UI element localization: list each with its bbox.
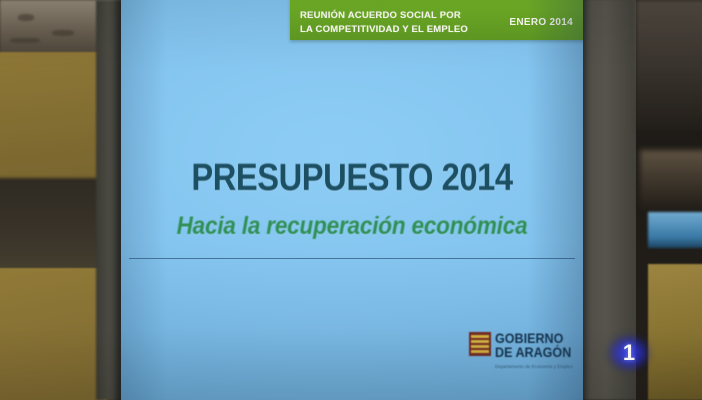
slide-title: PRESUPUESTO 2014: [153, 157, 550, 200]
stone-texture-speck: [52, 30, 74, 36]
slide-green-banner: REUNIÓN ACUERDO SOCIAL POR LA COMPETITIV…: [290, 0, 583, 40]
left-door-panel: [0, 268, 107, 400]
banner-date: ENERO 2014: [509, 17, 573, 28]
right-arch: [640, 150, 702, 210]
channel-logo: 1: [600, 328, 658, 378]
slide-subtitle: Hacia la recuperación económica: [144, 212, 560, 241]
right-background-monitor: [648, 212, 702, 248]
logo-department-text: Departamento de Economía y Empleo: [495, 364, 573, 370]
gobierno-de-aragon-logo: GOBIERNO DE ARAGÓN: [469, 332, 577, 360]
banner-line-1: REUNIÓN ACUERDO SOCIAL POR: [300, 10, 461, 21]
broadcast-frame: REUNIÓN ACUERDO SOCIAL POR LA COMPETITIV…: [0, 0, 702, 400]
slide-divider: [129, 258, 575, 259]
stone-texture-speck: [10, 38, 40, 43]
right-ceiling: [636, 0, 702, 130]
aragon-emblem-icon: [469, 332, 491, 356]
logo-line-2: DE ARAGÓN: [495, 346, 571, 360]
banner-line-2: LA COMPETITIVIDAD Y EL EMPLEO: [300, 24, 468, 35]
stone-texture-speck: [18, 14, 34, 21]
channel-number: 1: [600, 328, 658, 378]
projection-screen: REUNIÓN ACUERDO SOCIAL POR LA COMPETITIV…: [121, 0, 583, 400]
logo-wordmark: GOBIERNO DE ARAGÓN: [495, 332, 577, 360]
logo-line-1: GOBIERNO: [495, 332, 571, 346]
